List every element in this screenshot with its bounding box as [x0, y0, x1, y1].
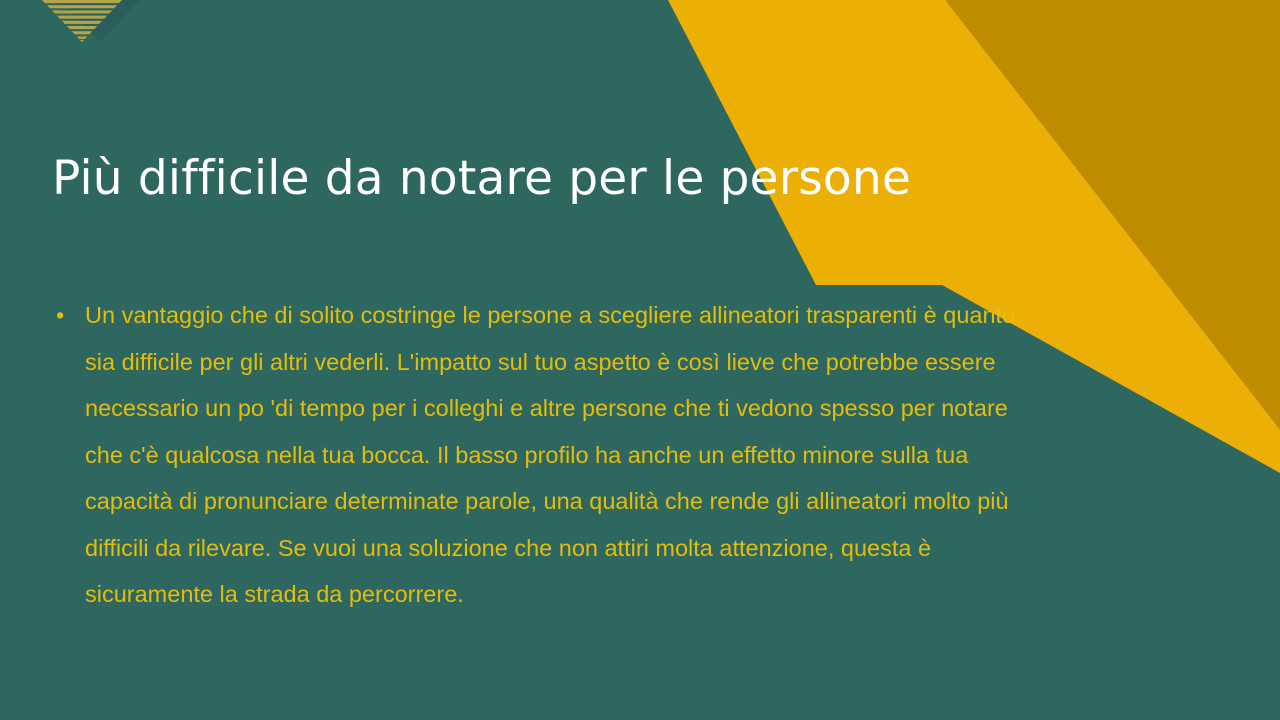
logo-stripes: [26, 0, 154, 42]
body-placeholder: • Un vantaggio che di solito costringe l…: [52, 292, 1027, 618]
title-placeholder: Più difficile da notare per le persone: [52, 148, 952, 210]
bullet-dot-icon: •: [56, 292, 64, 339]
slide-canvas: Più difficile da notare per le persone •…: [0, 0, 1280, 720]
list-item: • Un vantaggio che di solito costringe l…: [52, 292, 1027, 618]
bullet-list: • Un vantaggio che di solito costringe l…: [52, 292, 1027, 618]
list-item-label: Un vantaggio che di solito costringe le …: [85, 302, 1015, 607]
page-title: Più difficile da notare per le persone: [52, 148, 952, 210]
striped-inverted-triangle-logo: [26, 0, 154, 52]
